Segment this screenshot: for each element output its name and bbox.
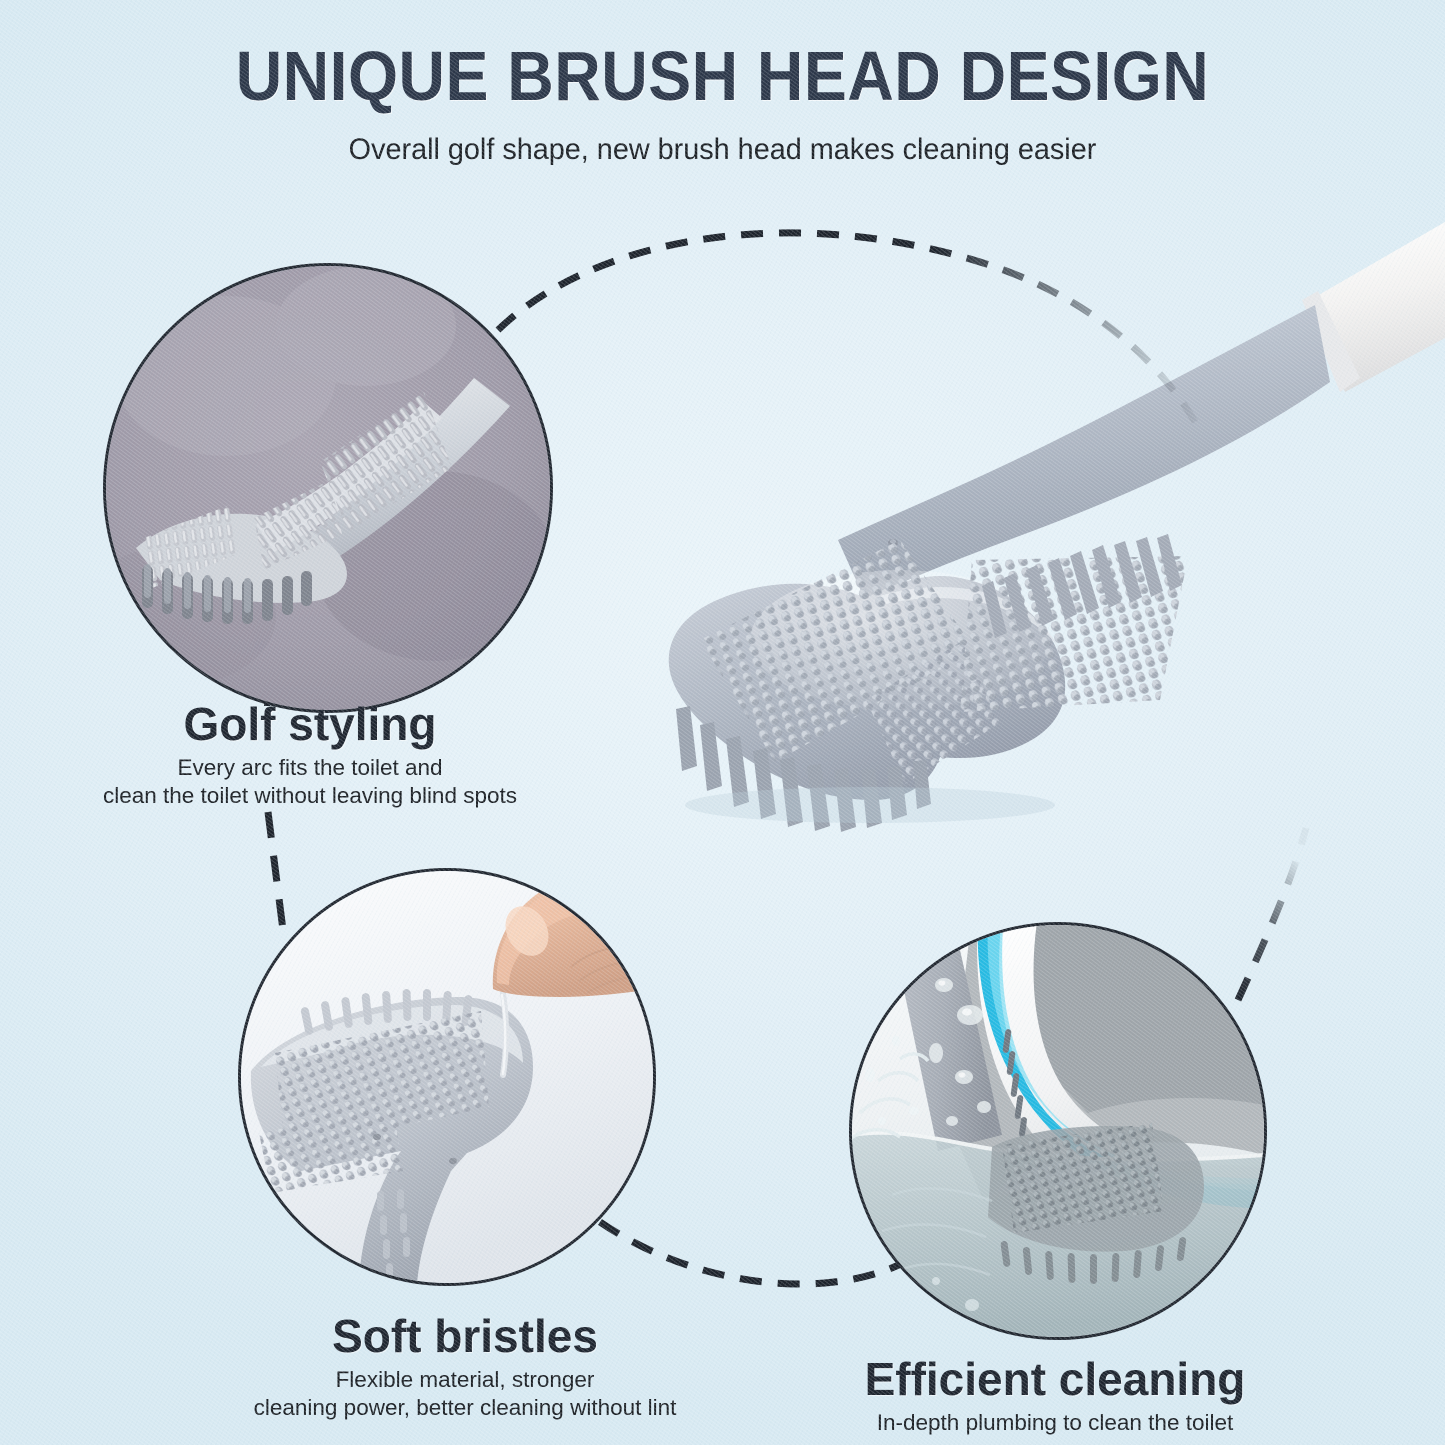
callout-desc-golf-styling: Every arc fits the toilet and clean the …: [60, 754, 560, 810]
page-title: UNIQUE BRUSH HEAD DESIGN: [58, 36, 1387, 116]
callout-photo-efficient-cleaning: [849, 922, 1267, 1340]
callout-caption-efficient-cleaning: Efficient cleaning In-depth plumbing to …: [820, 1355, 1290, 1437]
callout-title-golf-styling: Golf styling: [60, 700, 560, 748]
callout-desc-line2: clean the toilet without leaving blind s…: [60, 782, 560, 810]
callout-desc-line1: In-depth plumbing to clean the toilet: [820, 1409, 1290, 1437]
connector-golf-to-hero: [498, 233, 1200, 430]
page-subtitle: Overall golf shape, new brush head makes…: [29, 133, 1416, 167]
callout-caption-soft-bristles: Soft bristles Flexible material, stronge…: [230, 1312, 700, 1422]
callout-title-soft-bristles: Soft bristles: [230, 1312, 700, 1360]
callout-title-efficient-cleaning: Efficient cleaning: [820, 1355, 1290, 1403]
infographic-canvas: UNIQUE BRUSH HEAD DESIGN Overall golf sh…: [0, 0, 1445, 1445]
callout-desc-line1: Flexible material, stronger: [230, 1366, 700, 1394]
callout-photo-soft-bristles: [238, 868, 656, 1286]
callout-desc-efficient-cleaning: In-depth plumbing to clean the toilet: [820, 1409, 1290, 1437]
callout-desc-line1: Every arc fits the toilet and: [60, 754, 560, 782]
callout-desc-line2: cleaning power, better cleaning without …: [230, 1394, 700, 1422]
callout-photo-golf-styling: [103, 263, 553, 713]
callout-desc-soft-bristles: Flexible material, stronger cleaning pow…: [230, 1366, 700, 1422]
callout-caption-golf-styling: Golf styling Every arc fits the toilet a…: [60, 700, 560, 810]
